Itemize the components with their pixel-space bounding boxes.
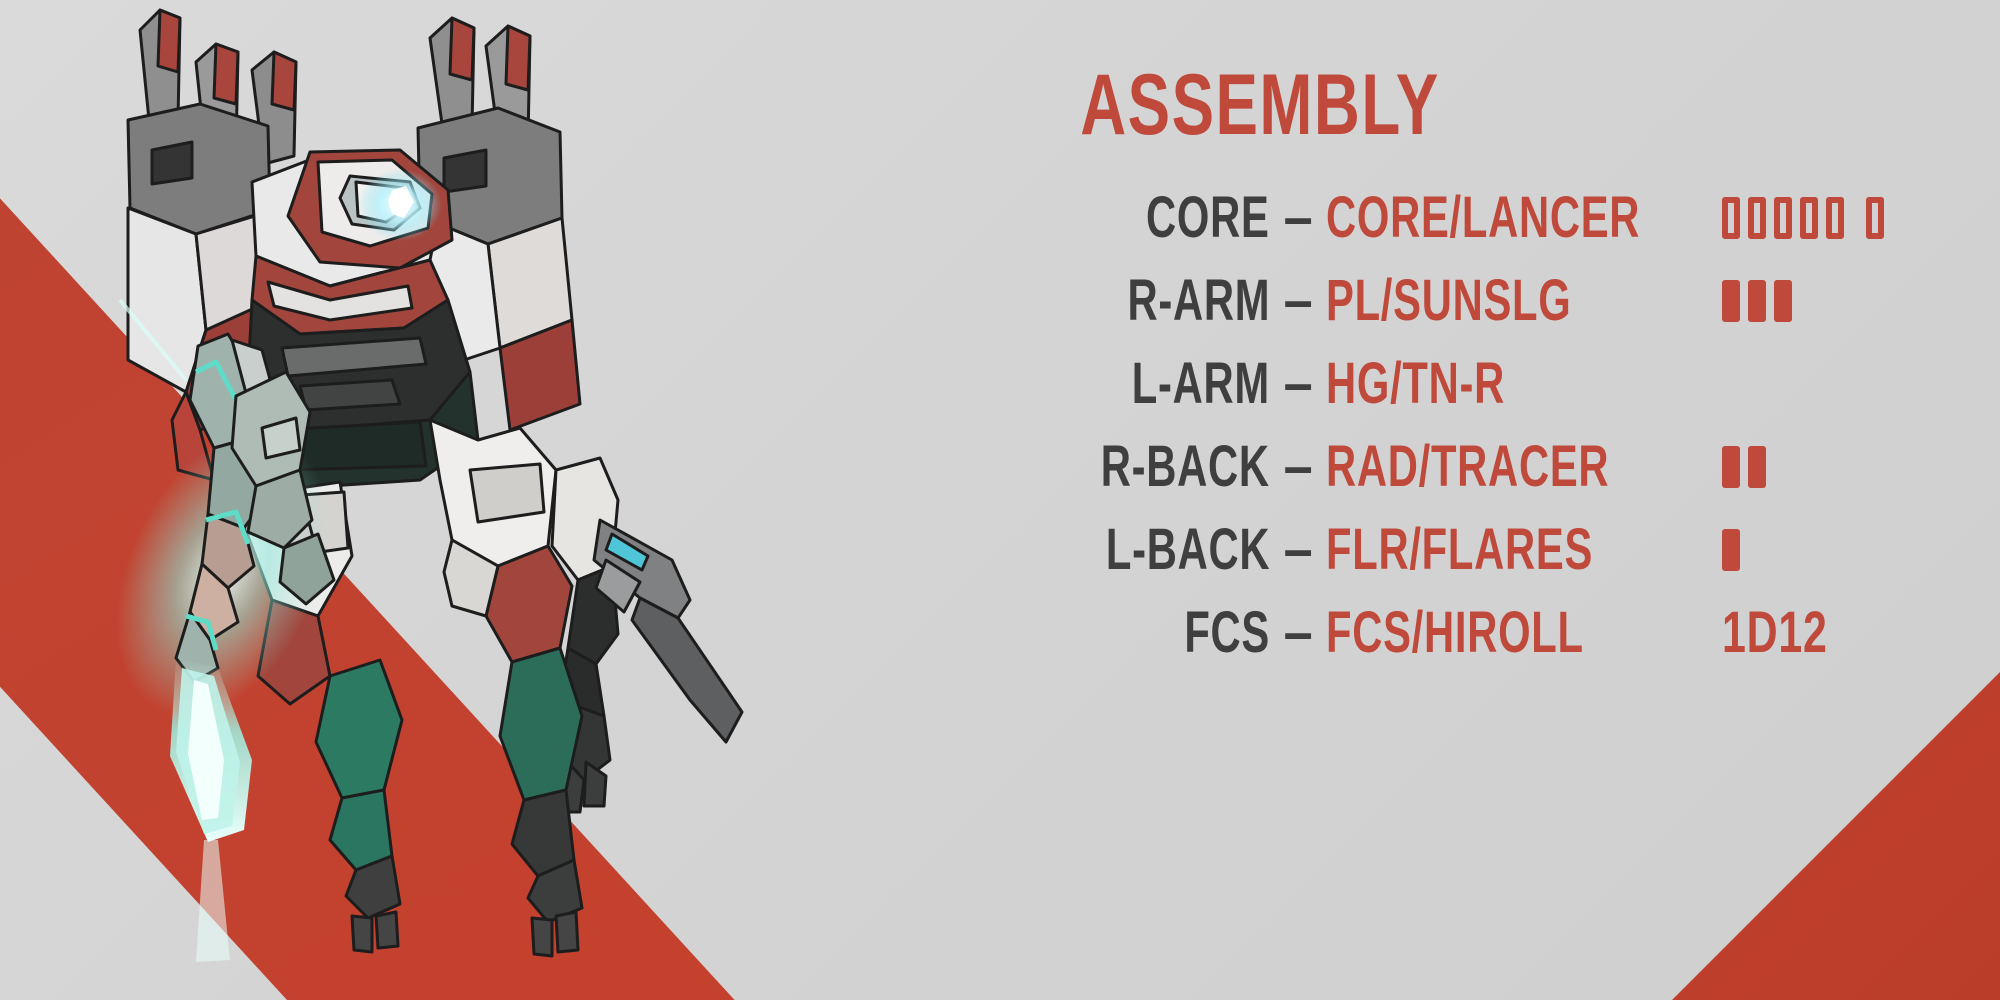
assembly-screen: ASSEMBLY CORE–CORE/LANCERR-ARM–PL/SUNSLG…: [0, 0, 2000, 1000]
assembly-row[interactable]: L-BACK–FLR/FLARES: [930, 508, 2000, 591]
assembly-row[interactable]: R-ARM–PL/SUNSLG: [930, 259, 2000, 342]
slot-label-cell: CORE: [930, 189, 1270, 247]
part-name[interactable]: CORE/LANCER: [1326, 189, 1640, 247]
slot-label-cell: L-BACK: [930, 521, 1270, 579]
part-name[interactable]: RAD/TRACER: [1326, 438, 1609, 496]
separator-dash: –: [1283, 438, 1312, 496]
meter-pip-filled: [1748, 446, 1766, 488]
meter-value: 1D12: [1722, 604, 1828, 662]
assembly-row[interactable]: L-ARM–HG/TN-R: [930, 342, 2000, 425]
separator-cell: –: [1270, 272, 1326, 330]
separator-dash: –: [1283, 521, 1312, 579]
part-meter: [1722, 176, 1992, 259]
part-name-cell: RAD/TRACER: [1326, 438, 1722, 496]
part-name-cell: PL/SUNSLG: [1326, 272, 1722, 330]
separator-dash: –: [1283, 272, 1312, 330]
slot-label-cell: R-BACK: [930, 438, 1270, 496]
part-name-cell: FCS/HIROLL: [1326, 604, 1722, 662]
separator-dash: –: [1283, 189, 1312, 247]
meter-pip-filled: [1722, 529, 1740, 571]
separator-cell: –: [1270, 355, 1326, 413]
part-meter: 1D12: [1722, 591, 1992, 674]
slot-label: L-BACK: [1106, 521, 1270, 579]
assembly-panel: ASSEMBLY CORE–CORE/LANCERR-ARM–PL/SUNSLG…: [930, 0, 2000, 1000]
part-meter: [1722, 342, 1992, 425]
slot-label-cell: R-ARM: [930, 272, 1270, 330]
meter-pip-filled: [1722, 446, 1740, 488]
separator-cell: –: [1270, 438, 1326, 496]
slot-label: CORE: [1146, 189, 1270, 247]
part-meter: [1722, 259, 1992, 342]
assembly-list: CORE–CORE/LANCERR-ARM–PL/SUNSLGL-ARM–HG/…: [930, 176, 2000, 674]
slot-label-cell: L-ARM: [930, 355, 1270, 413]
part-name[interactable]: FCS/HIROLL: [1326, 604, 1584, 662]
meter-pip-empty: [1722, 197, 1740, 239]
part-name-cell: FLR/FLARES: [1326, 521, 1722, 579]
meter-pip-filled: [1774, 280, 1792, 322]
separator-cell: –: [1270, 521, 1326, 579]
separator-dash: –: [1283, 355, 1312, 413]
assembly-row[interactable]: R-BACK–RAD/TRACER: [930, 425, 2000, 508]
part-name-cell: CORE/LANCER: [1326, 189, 1722, 247]
part-meter: [1722, 425, 1992, 508]
meter-pip-empty: [1800, 197, 1818, 239]
part-meter: [1722, 508, 1992, 591]
slot-label: R-BACK: [1101, 438, 1270, 496]
slot-label: R-ARM: [1127, 272, 1270, 330]
page-title: ASSEMBLY: [1016, 62, 1504, 148]
separator-cell: –: [1270, 189, 1326, 247]
part-name[interactable]: HG/TN-R: [1326, 355, 1505, 413]
meter-pip-empty: [1748, 197, 1766, 239]
part-name[interactable]: FLR/FLARES: [1326, 521, 1593, 579]
slot-label-cell: FCS: [930, 604, 1270, 662]
separator-dash: –: [1283, 604, 1312, 662]
meter-pip-empty: [1866, 197, 1884, 239]
mech-illustration: [0, 0, 900, 1000]
part-name-cell: HG/TN-R: [1326, 355, 1722, 413]
meter-pip-filled: [1748, 280, 1766, 322]
part-name[interactable]: PL/SUNSLG: [1326, 272, 1571, 330]
assembly-row[interactable]: CORE–CORE/LANCER: [930, 176, 2000, 259]
meter-pip-empty: [1774, 197, 1792, 239]
assembly-row[interactable]: FCS–FCS/HIROLL1D12: [930, 591, 2000, 674]
meter-pip-empty: [1826, 197, 1844, 239]
separator-cell: –: [1270, 604, 1326, 662]
slot-label: L-ARM: [1132, 355, 1270, 413]
meter-pip-filled: [1722, 280, 1740, 322]
slot-label: FCS: [1184, 604, 1270, 662]
